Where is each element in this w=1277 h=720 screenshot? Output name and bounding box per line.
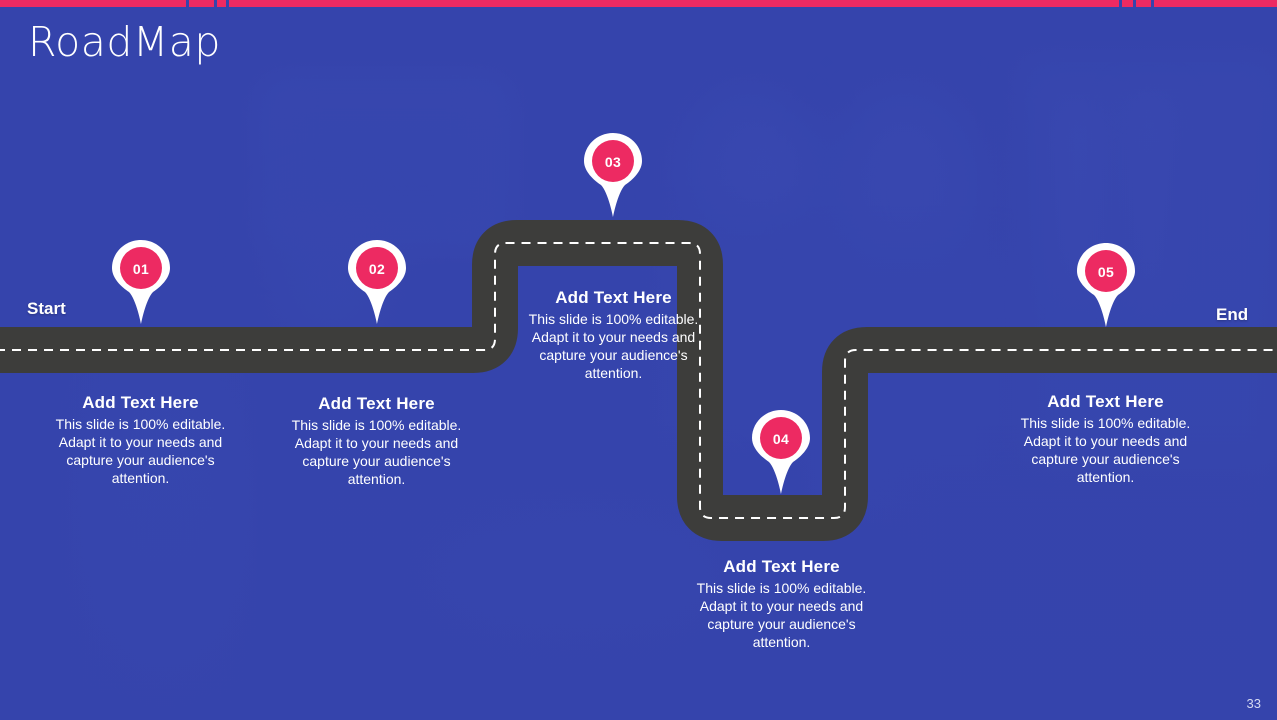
milestone-body-01: This slide is 100% editable. Adapt it to… bbox=[39, 416, 242, 488]
label-start: Start bbox=[27, 299, 66, 319]
milestone-text-05: Add Text Here This slide is 100% editabl… bbox=[1004, 392, 1207, 487]
milestone-body-03: This slide is 100% editable. Adapt it to… bbox=[512, 311, 715, 383]
milestone-title-04: Add Text Here bbox=[680, 557, 883, 577]
map-pin-05[interactable]: 05 bbox=[1077, 243, 1135, 327]
map-pin-04[interactable]: 04 bbox=[752, 410, 810, 494]
pin-teardrop-icon bbox=[1077, 243, 1135, 327]
map-pin-02[interactable]: 02 bbox=[348, 240, 406, 324]
milestone-title-02: Add Text Here bbox=[275, 394, 478, 414]
pin-teardrop-icon bbox=[752, 410, 810, 494]
slide-canvas: RoadMap Start End 01 02 03 bbox=[0, 0, 1277, 720]
milestone-title-05: Add Text Here bbox=[1004, 392, 1207, 412]
milestone-text-02: Add Text Here This slide is 100% editabl… bbox=[275, 394, 478, 489]
milestone-text-01: Add Text Here This slide is 100% editabl… bbox=[39, 393, 242, 488]
pin-teardrop-icon bbox=[112, 240, 170, 324]
pin-teardrop-icon bbox=[348, 240, 406, 324]
map-pin-01[interactable]: 01 bbox=[112, 240, 170, 324]
milestone-text-03: Add Text Here This slide is 100% editabl… bbox=[512, 288, 715, 383]
map-pin-03[interactable]: 03 bbox=[584, 133, 642, 217]
label-end: End bbox=[1216, 305, 1248, 325]
milestone-body-02: This slide is 100% editable. Adapt it to… bbox=[275, 417, 478, 489]
milestone-text-04: Add Text Here This slide is 100% editabl… bbox=[680, 557, 883, 652]
milestone-body-05: This slide is 100% editable. Adapt it to… bbox=[1004, 415, 1207, 487]
page-number: 33 bbox=[1247, 696, 1261, 711]
pin-teardrop-icon bbox=[584, 133, 642, 217]
milestone-body-04: This slide is 100% editable. Adapt it to… bbox=[680, 580, 883, 652]
milestone-title-01: Add Text Here bbox=[39, 393, 242, 413]
milestone-title-03: Add Text Here bbox=[512, 288, 715, 308]
